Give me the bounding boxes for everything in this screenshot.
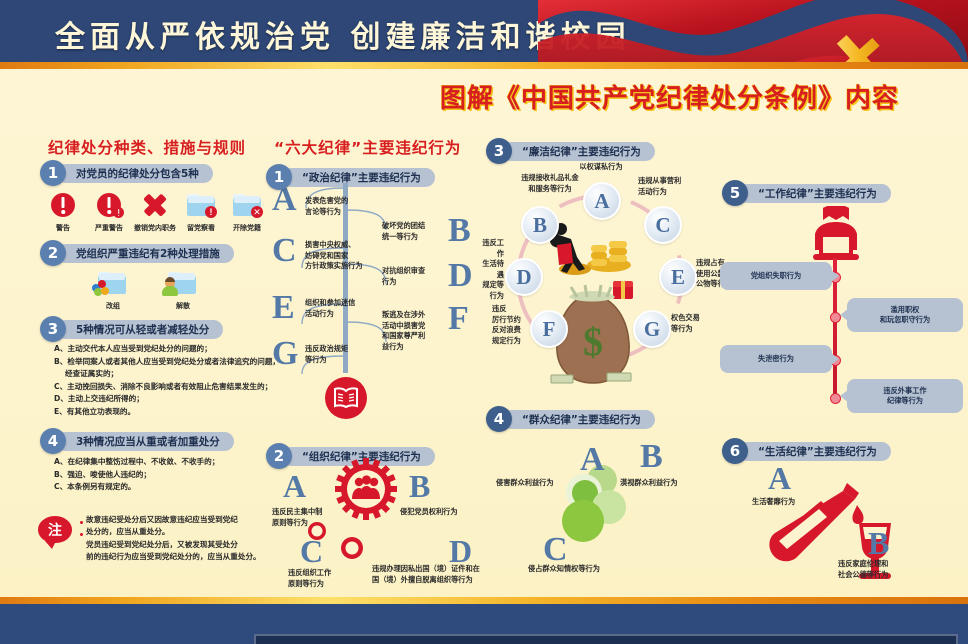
letter-b-org: B <box>409 470 430 502</box>
ring-node-d: D <box>505 258 543 296</box>
org-item-d-text: 违规办理因私出国（境）证件和在 国（境）外擅自脱离组织等行为 <box>372 564 480 585</box>
section-title: “工作纪律”主要违纪行为 <box>738 184 891 203</box>
work-callout-2: 滥用职权 和玩忽职守行为 <box>847 298 963 332</box>
red-x-icon <box>143 193 167 217</box>
political-item-e-text: 组织和参加迷信 活动行为 <box>305 298 355 319</box>
left-section-2-header: 2 党组织严重违纪有2种处理措施 <box>40 240 234 266</box>
ring-node-c: C <box>644 206 682 244</box>
punishment-warning: 警告 <box>40 190 86 233</box>
letter-b-life: B <box>868 527 889 559</box>
list-item: E、有其他立功表现的。 <box>54 406 280 419</box>
section-3-header: 3 “廉洁纪律”主要违纪行为 <box>486 138 655 164</box>
letter-a-life: A <box>768 462 791 494</box>
section-title: 5种情况可从轻或者减轻处分 <box>56 320 223 339</box>
measure-dissolve: 解散 <box>160 268 206 311</box>
section-number: 6 <box>722 438 748 464</box>
masses-item-c-text: 侵占群众知情权等行为 <box>528 564 600 575</box>
letter-b-masses: B <box>640 440 663 474</box>
section-title: 3种情况应当从重或者加重处分 <box>56 432 234 451</box>
icon-label: 解散 <box>160 301 206 311</box>
list-item: 经查证属实的； <box>54 368 280 381</box>
list-item: C、主动挽回损失、消除不良影响或者有效阻止危害结果发生的； <box>54 381 280 394</box>
ring-node-e: E <box>659 258 697 296</box>
political-item-f-text: 叛逃及在涉外 活动中损害党 和国家尊严利 益行为 <box>382 310 425 352</box>
section-title: “政治纪律”主要违纪行为 <box>282 168 435 187</box>
section-6-header: 6 “生活纪律”主要违纪行为 <box>722 438 891 464</box>
list-item: A、主动交代本人应当受到党纪处分的问题的； <box>54 343 280 356</box>
list-item: B、检举同案人或者其他人应当受到党纪处分或者法律追究的问题， <box>54 356 280 369</box>
severe-conditions-list: A、在纪律集中整饬过程中、不收敛、不收手的； B、强迫、唆使他人违纪的； C、本… <box>54 456 219 494</box>
bottom-plate <box>254 634 958 644</box>
gold-divider-top <box>0 62 968 69</box>
work-callout-3: 失泄密行为 <box>720 345 832 373</box>
top-banner: 全面从严依规治党 创建廉洁和谐校园 <box>0 0 968 62</box>
section-number: 4 <box>40 428 66 454</box>
person-laptop-icon <box>805 206 867 262</box>
lenient-conditions-list: A、主动交代本人应当受到党纪处分的问题的； B、检举同案人或者其他人应当受到党纪… <box>54 343 280 419</box>
measure-reorganize: 改组 <box>90 268 136 311</box>
life-item-b-text: 违反家庭伦理和 社会公德等行为 <box>838 559 888 580</box>
section-number: 4 <box>486 406 512 432</box>
political-item-c-text: 损害中央权威、 妨碍党和国家 方针政策实施行为 <box>305 240 363 272</box>
clean-item-a-text: 以权谋私行为 <box>554 162 648 173</box>
section-number: 3 <box>486 138 512 164</box>
list-item: D、主动上交违纪所得的； <box>54 393 280 406</box>
section-title: “廉洁纪律”主要违纪行为 <box>502 142 655 161</box>
punishment-expulsion: ✕ 开除党籍 <box>224 190 270 233</box>
life-item-a-text: 生活奢靡行为 <box>752 497 795 508</box>
middle-column-heading: “六大纪律”主要违纪行为 <box>274 136 461 158</box>
folder-exclamation-icon: ! <box>187 194 215 216</box>
left-section-4-header: 4 3种情况应当从重或者加重处分 <box>40 428 234 454</box>
clean-item-g-text: 权色交易 等行为 <box>671 313 737 334</box>
gold-divider-bottom <box>0 597 968 604</box>
svg-text:$: $ <box>583 319 603 364</box>
gear-people-icon <box>335 458 397 520</box>
left-section-1-header: 1 对党员的纪律处分包含5种 <box>40 160 213 186</box>
org-item-c-text: 违反组织工作 原则等行为 <box>288 568 331 589</box>
letter-a-masses: A <box>580 443 605 477</box>
political-item-d-text: 对抗组织审查 行为 <box>382 266 425 287</box>
note-badge: 注 <box>38 516 72 543</box>
political-item-g-text: 违反政治规矩 等行为 <box>305 344 348 365</box>
note-lines: 故意违纪受处分后又因故意违纪应当受到党纪 处分的，应当从重处分。 党员违纪受到党… <box>86 514 261 564</box>
letter-e-political: E <box>272 291 295 325</box>
letter-c-political: C <box>272 234 297 268</box>
masses-item-b-text: 漠视群众利益行为 <box>620 478 678 489</box>
icon-label: 撤销党内职务 <box>132 223 178 233</box>
banner-slogan: 全面从严依规治党 创建廉洁和谐校园 <box>55 12 630 56</box>
letter-c-masses: C <box>543 533 568 567</box>
political-item-a-text: 发表危害党的 言论等行为 <box>305 196 348 217</box>
section-title: 党组织严重违纪有2种处理措施 <box>56 244 234 263</box>
work-callout-1: 党组织失职行为 <box>720 262 832 290</box>
exclamation-circle-icon <box>51 193 75 217</box>
clean-item-b-text: 违规接收礼品礼金 和服务等行为 <box>505 173 595 194</box>
money-bag-icon: $ <box>545 215 655 390</box>
section-number: 5 <box>722 180 748 206</box>
icon-label: 留党察看 <box>178 223 224 233</box>
clean-item-d-text: 违反工作 生活待遇 规定等行为 <box>478 238 504 301</box>
work-callout-4: 违反外事工作 纪律等行为 <box>847 379 963 413</box>
page-title: 图解《中国共产党纪律处分条例》内容 <box>440 78 899 115</box>
double-exclamation-circle-icon <box>97 193 121 217</box>
note-line: 前的违纪行为应当受到党纪处分的，应当从重处分。 <box>86 551 261 563</box>
political-item-b-text: 破坏党的团结 统一等行为 <box>382 221 425 242</box>
note-line: 故意违纪受处分后又因故意违纪应当受到党纪 <box>86 514 261 526</box>
folder-group-icon <box>98 272 128 295</box>
note-line: 党员违纪受到党纪处分后，又被发现其受处分 <box>86 539 261 551</box>
note-line: 处分的，应当从重处分。 <box>86 526 261 538</box>
letter-d-org: D <box>449 535 472 567</box>
letter-b-political: B <box>448 214 471 248</box>
section-title: “生活纪律”主要违纪行为 <box>738 442 891 461</box>
open-book-icon <box>325 377 367 419</box>
section-number: 2 <box>266 443 292 469</box>
ring-node-g: G <box>633 310 671 348</box>
section-number: 1 <box>266 164 292 190</box>
icon-label: 警告 <box>40 223 86 233</box>
punishment-serious-warning: 严重警告 <box>86 190 132 233</box>
letter-c-org: C <box>300 535 323 567</box>
ring-node-f: F <box>530 310 568 348</box>
list-item: C、本条例另有规定的。 <box>54 481 219 494</box>
section-5-header: 5 “工作纪律”主要违纪行为 <box>722 180 891 206</box>
org-item-a-text: 违反民主集中制 原则等行为 <box>272 507 322 528</box>
folder-x-icon: ✕ <box>233 194 261 216</box>
ring-node-b: B <box>521 206 559 244</box>
masses-item-a-text: 侵害群众利益行为 <box>496 478 554 489</box>
icon-label: 改组 <box>90 301 136 311</box>
left-column-heading: 纪律处分种类、措施与规则 <box>48 136 246 158</box>
letter-a-org: A <box>283 470 306 502</box>
icon-label: 开除党籍 <box>224 223 270 233</box>
punishment-probation: ! 留党察看 <box>178 190 224 233</box>
poster-root: 全面从严依规治党 创建廉洁和谐校园 图解《中 <box>0 0 968 644</box>
org-measure-icons: 改组 解散 <box>90 268 206 311</box>
folder-person-icon <box>168 272 198 295</box>
clean-item-f-text: 违反 厉行节约 反对浪费 规定行为 <box>492 304 530 346</box>
section-title: “群众纪律”主要违纪行为 <box>502 410 655 429</box>
org-item-b-text: 侵犯党员权利行为 <box>400 507 458 518</box>
letter-f-political: F <box>448 302 469 336</box>
list-item: B、强迫、唆使他人违纪的； <box>54 469 219 482</box>
punishment-remove-post: 撤销党内职务 <box>132 190 178 233</box>
section-number: 1 <box>40 160 66 186</box>
section-number: 3 <box>40 316 66 342</box>
section-4-header: 4 “群众纪律”主要违纪行为 <box>486 406 655 432</box>
section-number: 2 <box>40 240 66 266</box>
clean-item-c-text: 违规从事营利 活动行为 <box>638 176 718 197</box>
section-title: 对党员的纪律处分包含5种 <box>56 164 213 183</box>
member-punishment-icons: 警告 严重警告 撤销党内职务 ! 留党察看 ✕ 开除党籍 <box>40 190 270 233</box>
letter-d-political: D <box>448 259 473 293</box>
icon-label: 严重警告 <box>86 223 132 233</box>
letter-g-political: G <box>272 337 298 371</box>
gear-small-icon-2 <box>339 535 365 561</box>
left-section-3-header: 3 5种情况可从轻或者减轻处分 <box>40 316 223 342</box>
list-item: A、在纪律集中整饬过程中、不收敛、不收手的； <box>54 456 219 469</box>
